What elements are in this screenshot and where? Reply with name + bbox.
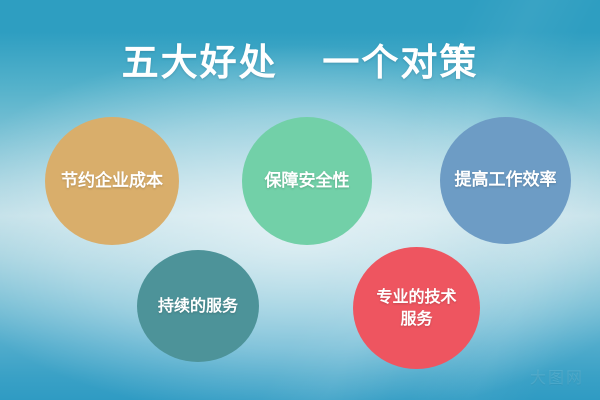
bubble-service-label: 持续的服务: [152, 295, 244, 317]
bubble-technical-service[interactable]: 专业的技术 服务: [353, 247, 480, 369]
bubble-cost-label: 节约企业成本: [55, 170, 169, 193]
watermark: 大图网: [530, 364, 584, 388]
bubble-technical-service-label: 专业的技术 服务: [370, 286, 462, 329]
bubble-service[interactable]: 持续的服务: [137, 250, 259, 362]
bubble-efficiency[interactable]: 提高工作效率: [440, 117, 571, 244]
bubble-cost[interactable]: 节约企业成本: [45, 117, 179, 245]
slide-canvas: 五大好处 一个对策 节约企业成本 保障安全性 提高工作效率 持续的服务 专业的技…: [0, 0, 600, 400]
bubble-safety-label: 保障安全性: [259, 170, 356, 193]
bubble-safety[interactable]: 保障安全性: [242, 117, 372, 245]
bubble-efficiency-label: 提高工作效率: [449, 169, 563, 192]
page-title: 五大好处 一个对策: [0, 32, 600, 86]
